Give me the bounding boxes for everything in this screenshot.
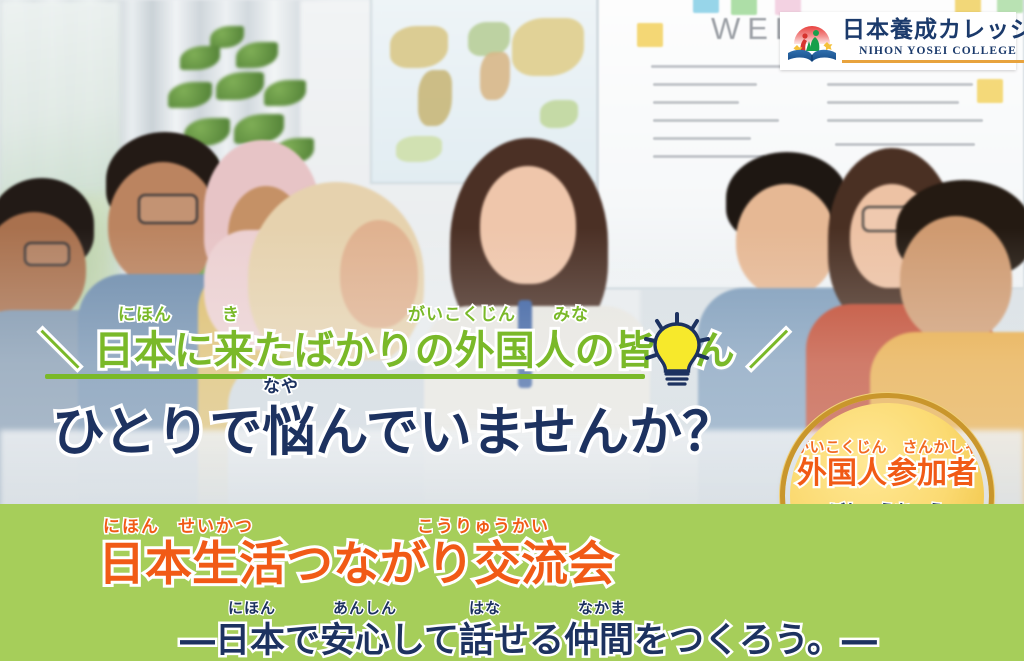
logo-name-jp: 日本養成カレッジ <box>842 19 1024 42</box>
badge-ruby-top: がいこくじん さんかしゃ <box>794 436 980 457</box>
headline-divider-rule <box>45 374 645 379</box>
college-logo[interactable]: 日本養成カレッジ NIHON YOSEI COLLEGE <box>780 12 1016 70</box>
lightbulb-icon <box>640 310 716 390</box>
banner-title: 日本生活つながり交流会 <box>98 525 615 594</box>
poster-root: WELCOME <box>0 0 1024 661</box>
logo-text-block: 日本養成カレッジ NIHON YOSEI COLLEGE <box>842 19 1024 64</box>
headline-line-2: ひとりで悩んでいませんか？ <box>52 390 735 466</box>
sun-people-book-icon <box>786 17 838 65</box>
badge-title: 外国人参加者 <box>797 458 977 490</box>
logo-name-en: NIHON YOSEI COLLEGE <box>842 46 1024 58</box>
banner-subtitle: ―日本で安心して話せる仲間をつくろう。― <box>180 612 877 661</box>
logo-accent-rule <box>842 60 1024 63</box>
